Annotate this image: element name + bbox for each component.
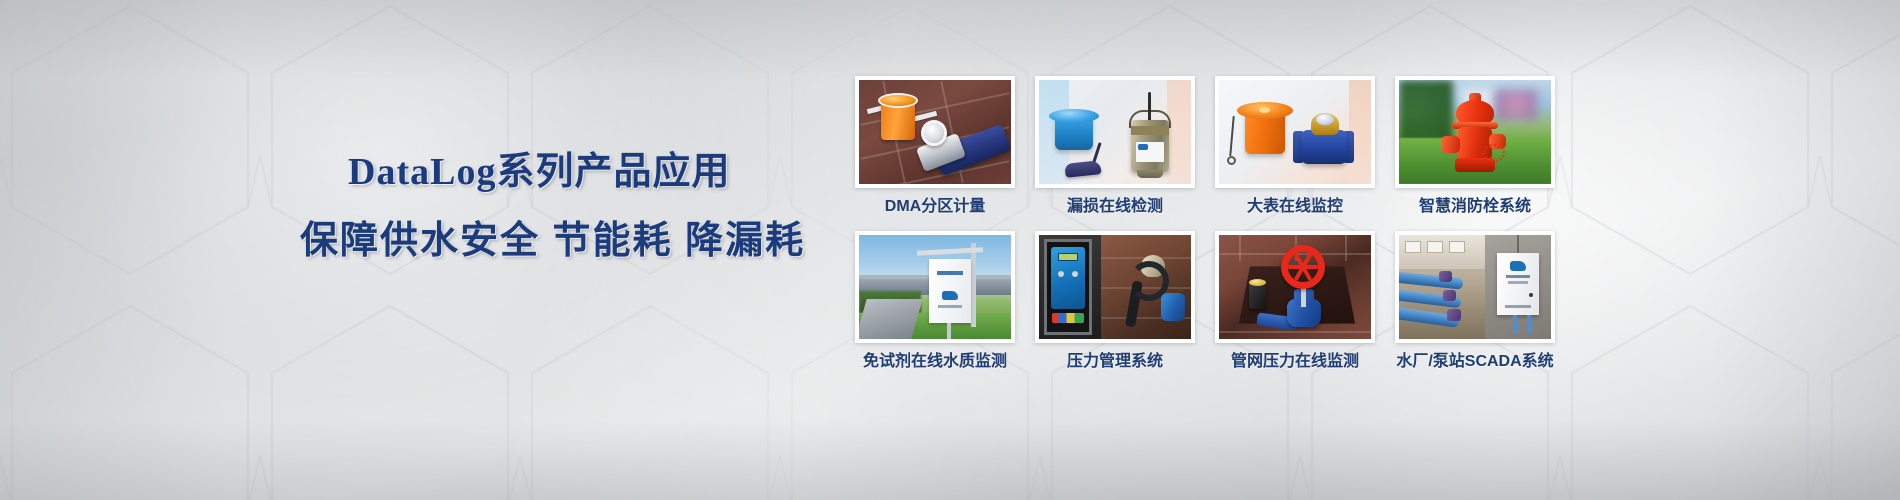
headline-block: DataLog系列产品应用 保障供水安全 节能耗 降漏耗 (300, 150, 860, 264)
leak-detection-photo (1039, 80, 1191, 184)
product-caption: DMA分区计量 (855, 197, 1015, 217)
product-card-pipe-pressure-monitoring[interactable]: 管网压力在线监测 (1215, 231, 1375, 372)
smart-hydrant-photo (1399, 80, 1551, 184)
product-caption: 大表在线监控 (1215, 197, 1375, 217)
dma-zone-metering-photo (859, 80, 1011, 184)
thumbnail-frame[interactable] (1035, 76, 1195, 188)
reagent-free-water-quality-photo (859, 235, 1011, 339)
product-grid: DMA分区计量 漏损在线检测 (855, 76, 1555, 372)
thumbnail-frame[interactable] (855, 231, 1015, 343)
headline-line-2: 保障供水安全 节能耗 降漏耗 (300, 218, 860, 264)
large-meter-monitoring-photo (1219, 80, 1371, 184)
pressure-management-photo (1039, 235, 1191, 339)
product-caption: 压力管理系统 (1035, 352, 1195, 372)
thumbnail-frame[interactable] (1215, 76, 1375, 188)
product-card-pressure-management[interactable]: 压力管理系统 (1035, 231, 1195, 372)
product-card-dma-zone-metering[interactable]: DMA分区计量 (855, 76, 1015, 217)
product-card-water-quality[interactable]: 免试剂在线水质监测 (855, 231, 1015, 372)
product-application-banner: DataLog系列产品应用 保障供水安全 节能耗 降漏耗 (0, 0, 1900, 500)
thumbnail-frame[interactable] (1395, 76, 1555, 188)
product-caption: 漏损在线检测 (1035, 197, 1195, 217)
product-card-smart-hydrant[interactable]: 智慧消防栓系统 (1395, 76, 1555, 217)
pipe-pressure-monitoring-photo (1219, 235, 1371, 339)
thumbnail-frame[interactable] (1215, 231, 1375, 343)
product-caption: 免试剂在线水质监测 (855, 352, 1015, 372)
thumbnail-frame[interactable] (855, 76, 1015, 188)
headline-line-1: DataLog系列产品应用 (300, 150, 860, 194)
thumbnail-frame[interactable] (1395, 231, 1555, 343)
product-card-scada-system[interactable]: 水厂/泵站SCADA系统 (1395, 231, 1555, 372)
scada-system-photo (1399, 235, 1551, 339)
product-caption: 管网压力在线监测 (1215, 352, 1375, 372)
thumbnail-frame[interactable] (1035, 231, 1195, 343)
product-caption: 水厂/泵站SCADA系统 (1395, 352, 1555, 372)
product-caption: 智慧消防栓系统 (1395, 197, 1555, 217)
product-card-leak-detection[interactable]: 漏损在线检测 (1035, 76, 1195, 217)
product-card-large-meter-monitoring[interactable]: 大表在线监控 (1215, 76, 1375, 217)
